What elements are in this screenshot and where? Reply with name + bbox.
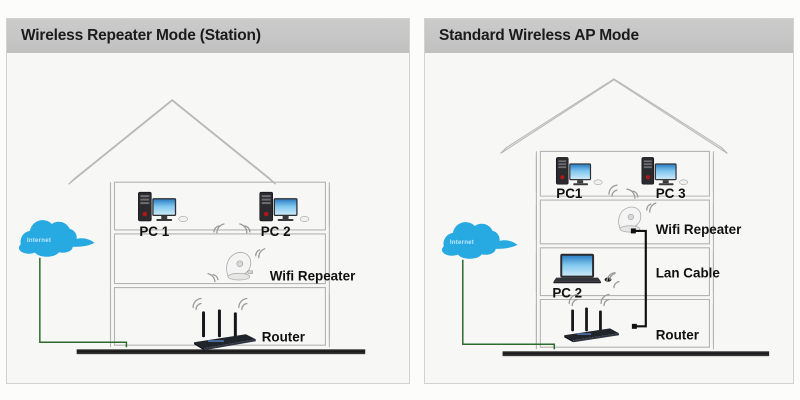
device-router-right — [564, 307, 619, 342]
panel-standard-wireless-ap-mode: Standard Wireless AP Mode — [424, 18, 794, 384]
internet-cloud-label-right: Internet — [450, 239, 474, 246]
device-label-router-left: Router — [262, 329, 306, 344]
scene-right: Internet PC1 — [425, 53, 793, 383]
panel-wireless-repeater-mode: Wireless Repeater Mode (Station) — [6, 18, 410, 384]
device-laptop-pc2-right: PC 2 — [552, 254, 611, 301]
internet-cloud-left: Internet — [19, 220, 95, 257]
device-label-pc2-left: PC 2 — [261, 224, 291, 239]
device-wifi-repeater-left — [227, 252, 253, 280]
scene-left: Internet PC 1 — [7, 53, 409, 383]
panel-title-left: Wireless Repeater Mode (Station) — [21, 27, 261, 45]
house-roof-left — [69, 100, 276, 184]
wireless-signal-icons-repeater-right — [647, 203, 656, 212]
house-roof-right — [501, 79, 728, 154]
device-label-pc1-right: PC1 — [556, 186, 583, 201]
device-desktop-pc-1-left: PC 1 — [138, 192, 187, 239]
panel-header-left: Wireless Repeater Mode (Station) — [7, 19, 409, 53]
panel-body-left: Internet PC 1 — [7, 53, 409, 383]
device-label-wifi-repeater-left: Wifi Repeater — [270, 269, 356, 284]
panel-body-right: Internet PC1 — [425, 53, 793, 383]
device-wifi-repeater-right — [619, 207, 641, 232]
internet-cloud-right: Internet — [442, 222, 518, 259]
device-desktop-pc1-right: PC1 — [556, 157, 602, 201]
device-router-left — [194, 309, 256, 350]
device-desktop-pc3-right: PC 3 — [642, 157, 688, 201]
internet-cloud-label-left: Internet — [27, 237, 51, 244]
ground-line-left — [77, 349, 366, 354]
wireless-signal-icons-floor1-left — [214, 224, 250, 233]
wireless-signal-icons-router-left — [193, 299, 247, 310]
device-label-pc2-right: PC 2 — [552, 286, 582, 301]
panel-header-right: Standard Wireless AP Mode — [425, 19, 793, 53]
ground-line-right — [503, 351, 770, 356]
lan-cable-label-right: Lan Cable — [656, 266, 720, 281]
diagram-canvas: Wireless Repeater Mode (Station) — [0, 0, 800, 400]
internet-wan-line-left — [40, 258, 127, 347]
device-desktop-pc-2-left: PC 2 — [260, 192, 309, 239]
device-label-pc1-left: PC 1 — [139, 224, 169, 239]
device-label-pc3-right: PC 3 — [656, 186, 686, 201]
device-label-router-right: Router — [656, 327, 700, 342]
panel-title-right: Standard Wireless AP Mode — [439, 27, 639, 45]
device-label-wifi-repeater-right: Wifi Repeater — [656, 222, 742, 237]
